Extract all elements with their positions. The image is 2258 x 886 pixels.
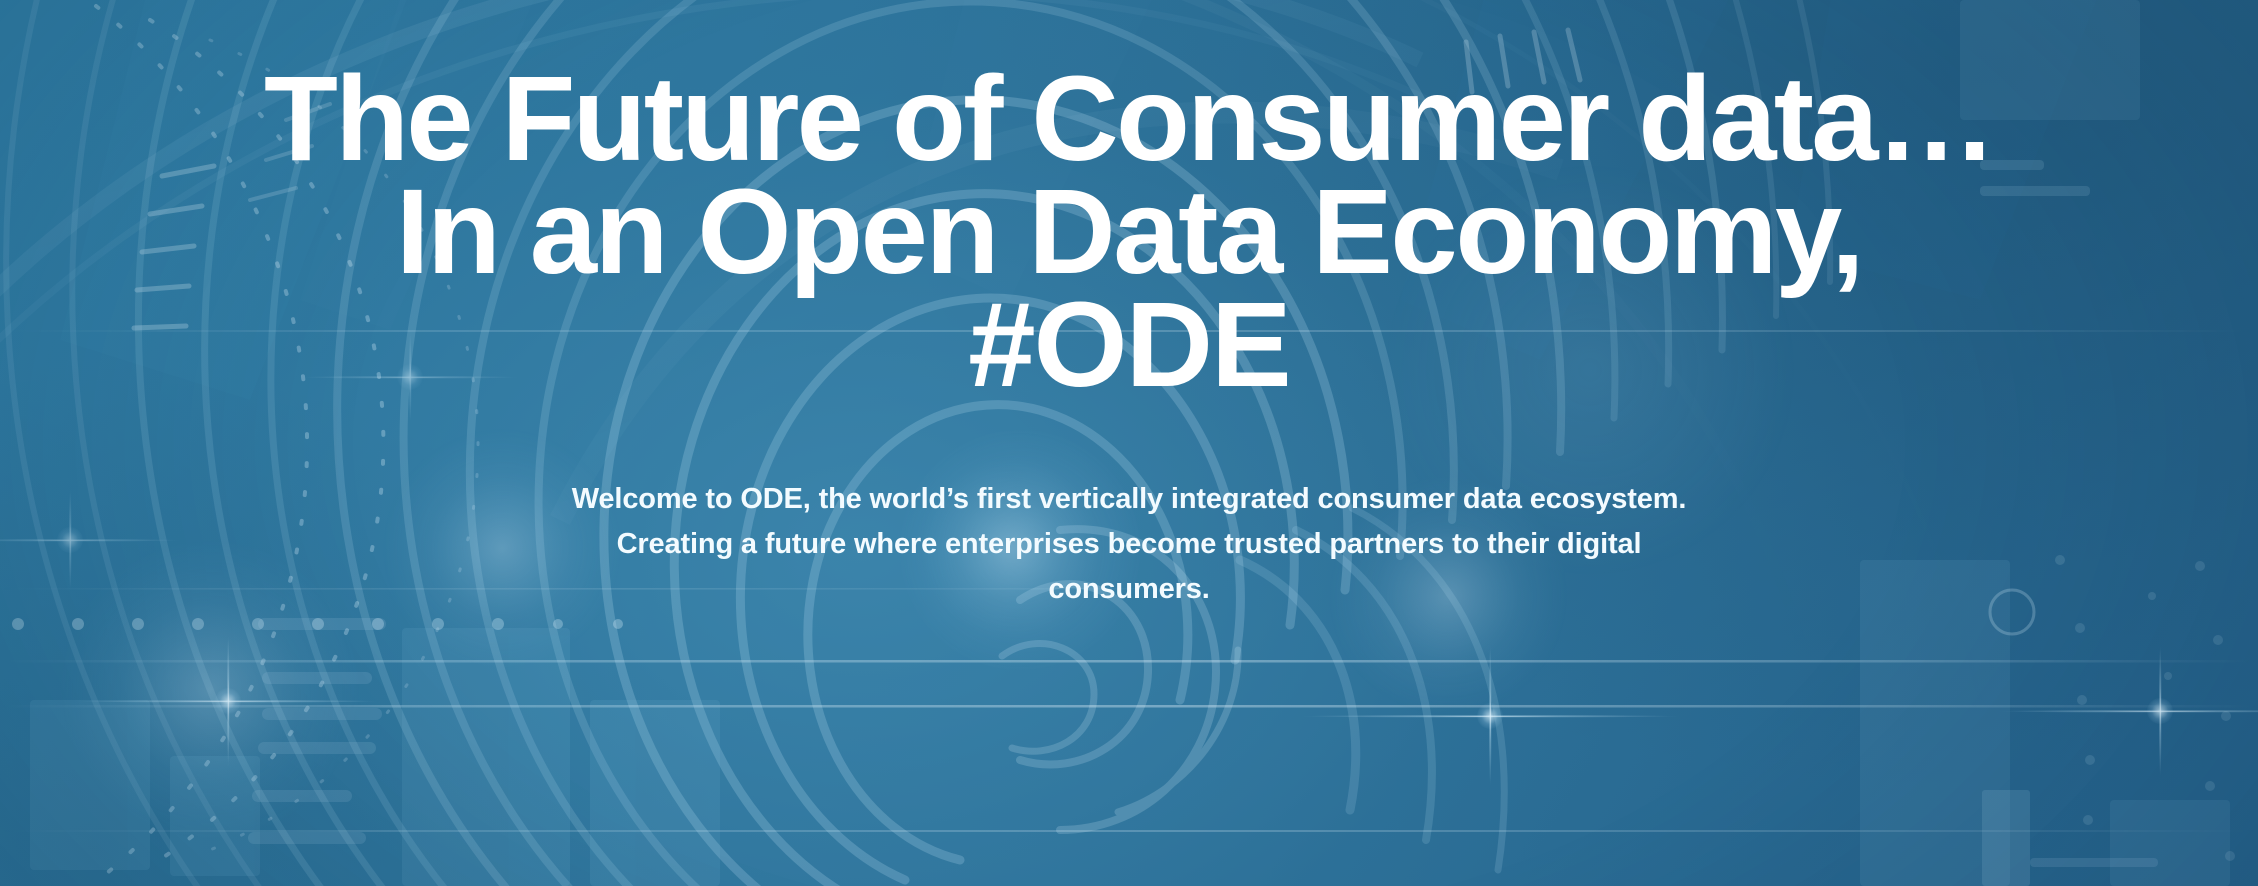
hero-subtitle-line-3: consumers. [509,567,1749,612]
hero-subtitle: Welcome to ODE, the world’s first vertic… [509,477,1749,612]
hero-heading: The Future of Consumer data… In an Open … [24,62,2234,401]
hero-content: The Future of Consumer data… In an Open … [0,0,2258,886]
hero-heading-line-1: The Future of Consumer data… [24,62,2234,175]
hero-heading-line-2: In an Open Data Economy, [24,175,2234,288]
hero-subtitle-line-2: Creating a future where enterprises beco… [509,522,1749,567]
hero-heading-line-3: #ODE [24,288,2234,401]
hero-banner: The Future of Consumer data… In an Open … [0,0,2258,886]
hero-subtitle-line-1: Welcome to ODE, the world’s first vertic… [509,477,1749,522]
